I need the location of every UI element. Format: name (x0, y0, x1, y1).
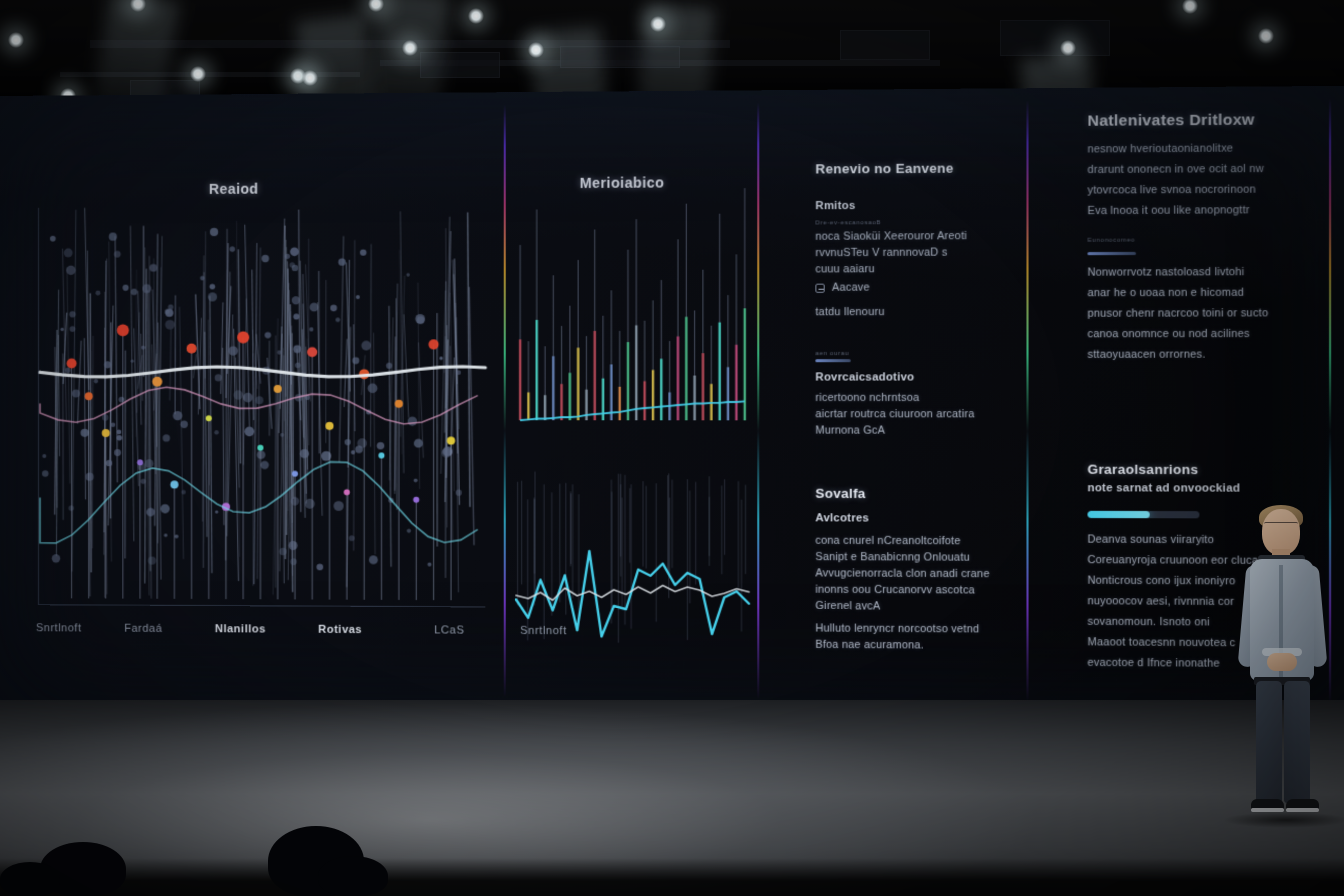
presenter-hands (1267, 653, 1297, 671)
right-section3-heading: Sovalfa (815, 486, 865, 501)
presenter-right-leg (1284, 681, 1310, 803)
right-section2-line-2: Murnona GcA (815, 422, 885, 438)
right-section1-line-2: cuuu aaiaru (815, 261, 874, 278)
spotlight (402, 40, 418, 56)
right-section2-micro: aen ourau (815, 351, 849, 357)
spotlight (468, 8, 484, 24)
panel-divider (757, 102, 759, 699)
stage-scene: Reaiod Snrtlnoft Fardaá Nlanillos Rotiva… (0, 0, 1344, 896)
spotlight (1060, 40, 1076, 56)
left-chart-svg (38, 206, 485, 607)
right-shoe-sole (1286, 808, 1319, 812)
right-section2-line-1: aicrtar routrca ciuuroon arcatira (815, 406, 974, 422)
left-plot-area (38, 206, 485, 607)
far-right-body-3: canoa onomnce ou nod acilines (1087, 326, 1249, 343)
accent-bar (1087, 252, 1136, 255)
checkbox-icon[interactable] (815, 284, 824, 293)
far-right-intro-0: nesnow hverioutaonianolitxe (1087, 140, 1233, 157)
presenter-left-leg (1256, 681, 1282, 803)
spotlight (8, 32, 24, 48)
audience-band (0, 858, 1344, 896)
spotlight (190, 66, 206, 82)
mid-x-label: Snrtlnoft (520, 625, 567, 637)
right-section2-heading: Rovrcaicsadotivo (815, 371, 914, 383)
far-right-section-line-2: Nonticrous cono ijux inoniyro (1087, 572, 1235, 589)
truss-fixture (560, 46, 680, 68)
glasses-icon (1264, 522, 1298, 529)
truss-fixture (1000, 20, 1110, 56)
mid-bar-chart-svg (516, 196, 749, 461)
far-right-section-line-4: sovanomoun. Isnoto oni (1087, 614, 1209, 631)
checkbox-label[interactable]: Aacave (832, 279, 870, 295)
y-axis (38, 208, 39, 604)
far-right-section-sub: note sarnat ad onvoockiad (1087, 482, 1240, 495)
right-section3-line-5: Hulluto lenryncr norcootso vetnd (815, 620, 979, 637)
left-shoe-sole (1251, 808, 1284, 812)
far-right-body-4: sttaoyuaacen orrornes. (1087, 346, 1205, 363)
far-right-section-line-0: Deanva sounas viiraryito (1087, 531, 1214, 548)
far-right-body-0: Nonworrvotz nastoloasd livtohi (1087, 264, 1244, 281)
x-tick-label-1: Fardaá (124, 623, 162, 635)
right-panel-title: Renevio no Eanvene (815, 160, 953, 176)
left-panel-title: Reaiod (209, 181, 259, 197)
far-right-micro-label: Eunonocomeo (1087, 238, 1135, 244)
x-tick-label-4: LCaS (434, 624, 464, 636)
far-right-section-heading: Graraolsanrions (1087, 462, 1198, 478)
far-right-title: Natlenivates Dritloxw (1087, 111, 1254, 130)
mid-panel-title: Merioiabico (580, 174, 665, 191)
far-right-section-line-5: Maaoot toacesnn nouvotea c (1087, 634, 1235, 651)
far-right-section-line-3: nuyooocov aesi, rivnnnia cor (1087, 593, 1234, 610)
x-tick-label-3: Rotivas (318, 624, 362, 636)
right-section3-line-6: Bfoa nae acuramona. (815, 637, 924, 654)
far-right-body-1: anar he o uoaa non e hicomad (1087, 285, 1244, 302)
far-right-intro-2: ytovrcoca live svnoa nocrorinoon (1087, 181, 1256, 198)
progress-bar[interactable] (1087, 511, 1199, 518)
mid-chart-panel: Merioiabico Snrtlnoft (516, 90, 749, 701)
right-section1-line-0: noca Siaoküi Xeerouror Areoti (815, 228, 967, 245)
audience-silhouette (0, 862, 60, 896)
right-section3-line-0: cona cnurel nCreanoltcoifote (815, 533, 960, 550)
far-right-body-2: pnusor chenr nacrcoo toini or sucto (1087, 305, 1268, 322)
right-section3-line-4: Girenel avcA (815, 598, 880, 615)
spotlight (650, 16, 666, 32)
right-section3-line-2: Avvugcienorracla clon anadi crane (815, 565, 989, 582)
right-section3-line-3: inonns oou Crucanorvv ascotca (815, 582, 975, 599)
right-section1-micro: Dre-ev-escanosaoB (815, 220, 881, 226)
spotlight (528, 42, 544, 58)
right-section3-line-1: Sanipt e Banabicnng Onlouatu (815, 549, 969, 566)
right-section1-tail: tatdu llenouru (815, 304, 884, 320)
right-text-panel: Renevio no Eanvene Rmitos Dre-ev-escanos… (805, 88, 1014, 703)
mid-upper-plot (516, 196, 749, 461)
audience-silhouette (318, 856, 388, 896)
right-section1-line-1: rvvnuSTeu V rannnovaD s (815, 244, 947, 261)
right-section3-sub: Avlcotres (815, 512, 869, 524)
x-tick-label-2: Nlanillos (215, 623, 266, 635)
left-chart-panel: Reaiod Snrtlnoft Fardaá Nlanillos Rotiva… (30, 92, 496, 699)
spotlight (1258, 28, 1274, 44)
spotlight (302, 70, 318, 86)
right-section2-line-0: ricertoono nchrntsoa (815, 390, 919, 406)
truss-fixture (840, 30, 930, 60)
x-tick-label-0: Snrtlnoft (36, 622, 82, 634)
truss-fixture (420, 52, 500, 78)
far-right-intro-1: drarunt ononecn in ove ocit aol nw (1087, 161, 1263, 178)
presenter (1232, 505, 1336, 821)
right-section1-heading: Rmitos (815, 200, 855, 212)
progress-bar-fill (1087, 511, 1150, 518)
panel-divider (1026, 101, 1028, 702)
panel-divider (504, 104, 506, 697)
far-right-section-line-6: evacotoe d Ifnce inonathe (1087, 655, 1219, 672)
presentation-screen: Reaiod Snrtlnoft Fardaá Nlanillos Rotiva… (0, 86, 1344, 719)
section-accent-bar (815, 359, 850, 362)
far-right-intro-3: Eva lnooa it oou like anopnogttr (1087, 202, 1249, 219)
